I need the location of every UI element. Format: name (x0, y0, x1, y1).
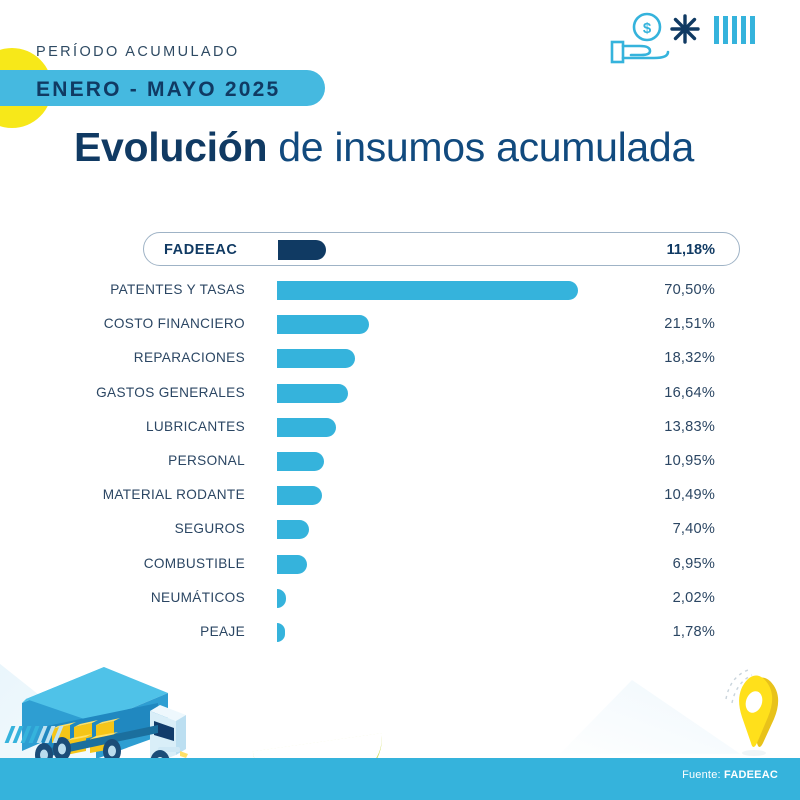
chart-row-label: NEUMÁTICOS (0, 590, 245, 605)
source-name: FADEEAC (724, 769, 778, 781)
chart-row: COSTO FINANCIERO21,51% (0, 308, 800, 342)
chart-row: LUBRICANTES13,83% (0, 411, 800, 445)
chart-row: SEGUROS7,40% (0, 513, 800, 547)
page-title-bold: Evolución (74, 124, 267, 170)
chart-row-bar (277, 486, 322, 505)
chart-rows: PATENTES Y TASAS70,50%COSTO FINANCIERO21… (0, 274, 800, 650)
page-title: Evolución de insumos acumulada (74, 122, 694, 172)
chart-row-label: PERSONAL (0, 453, 245, 468)
infographic-page: PERÍODO ACUMULADO ENERO - MAYO 2025 Evol… (0, 0, 800, 800)
chart-row-bar (277, 623, 285, 642)
chart-row: COMBUSTIBLE6,95% (0, 548, 800, 582)
period-kicker: PERÍODO ACUMULADO (36, 44, 240, 60)
chart-row-value: 6,95% (560, 556, 715, 572)
highlight-row-fadeeac: FADEEAC 11,18% (143, 232, 740, 266)
chart-row-bar (277, 418, 336, 437)
vertical-bars-icon (714, 16, 755, 44)
chart-row-label: PEAJE (0, 624, 245, 639)
chart-row-label: PATENTES Y TASAS (0, 282, 245, 297)
map-pin-illustration (718, 665, 788, 760)
highlight-label: FADEEAC (164, 242, 238, 258)
chart-row-label: COMBUSTIBLE (0, 556, 245, 571)
background-wash-right (560, 680, 740, 770)
chart-row-label: LUBRICANTES (0, 419, 245, 434)
period-label: ENERO - MAYO 2025 (36, 78, 280, 102)
chart-row-value: 16,64% (560, 385, 715, 401)
chart-row-label: COSTO FINANCIERO (0, 316, 245, 331)
chart-row: PERSONAL10,95% (0, 445, 800, 479)
chart-row-label: GASTOS GENERALES (0, 385, 245, 400)
footer-bar (0, 758, 800, 800)
icon-cluster: $ (610, 8, 786, 66)
motion-lines-icon (8, 726, 60, 743)
chart-row-label: SEGUROS (0, 521, 245, 536)
chart-row-value: 10,95% (560, 453, 715, 469)
chart-row-value: 2,02% (560, 590, 715, 606)
chart-row: PEAJE1,78% (0, 616, 800, 650)
chart-row-value: 10,49% (560, 487, 715, 503)
chart-row-value: 13,83% (560, 419, 715, 435)
chart-row: GASTOS GENERALES16,64% (0, 377, 800, 411)
chart-row: NEUMÁTICOS2,02% (0, 582, 800, 616)
chart-row-value: 70,50% (560, 282, 715, 298)
highlight-bar (278, 240, 326, 260)
chart-row: MATERIAL RODANTE10,49% (0, 479, 800, 513)
svg-text:$: $ (643, 20, 652, 37)
chart-row-label: MATERIAL RODANTE (0, 487, 245, 502)
chart-row-bar (277, 384, 348, 403)
asterisk-icon (670, 14, 700, 49)
chart-row-bar (277, 349, 355, 368)
chart-row-bar (277, 555, 307, 574)
chart-row-bar (277, 520, 309, 539)
period-pill: ENERO - MAYO 2025 (0, 70, 325, 106)
chart-row-value: 1,78% (560, 624, 715, 640)
chart-row-bar (277, 281, 578, 300)
source-label: Fuente: (682, 769, 721, 781)
source-credit: Fuente: FADEEAC (682, 769, 778, 781)
hand-money-icon: $ (610, 12, 672, 69)
highlight-value: 11,18% (667, 242, 715, 258)
chart-row-bar (277, 315, 369, 334)
page-title-rest: de insumos acumulada (267, 124, 694, 170)
chart-row: PATENTES Y TASAS70,50% (0, 274, 800, 308)
chart-row-value: 7,40% (560, 521, 715, 537)
chart-row-bar (277, 589, 286, 608)
chart-row-bar (277, 452, 324, 471)
chart-row: REPARACIONES18,32% (0, 342, 800, 376)
chart-row-label: REPARACIONES (0, 350, 245, 365)
chart-row-value: 18,32% (560, 350, 715, 366)
chart-row-value: 21,51% (560, 316, 715, 332)
